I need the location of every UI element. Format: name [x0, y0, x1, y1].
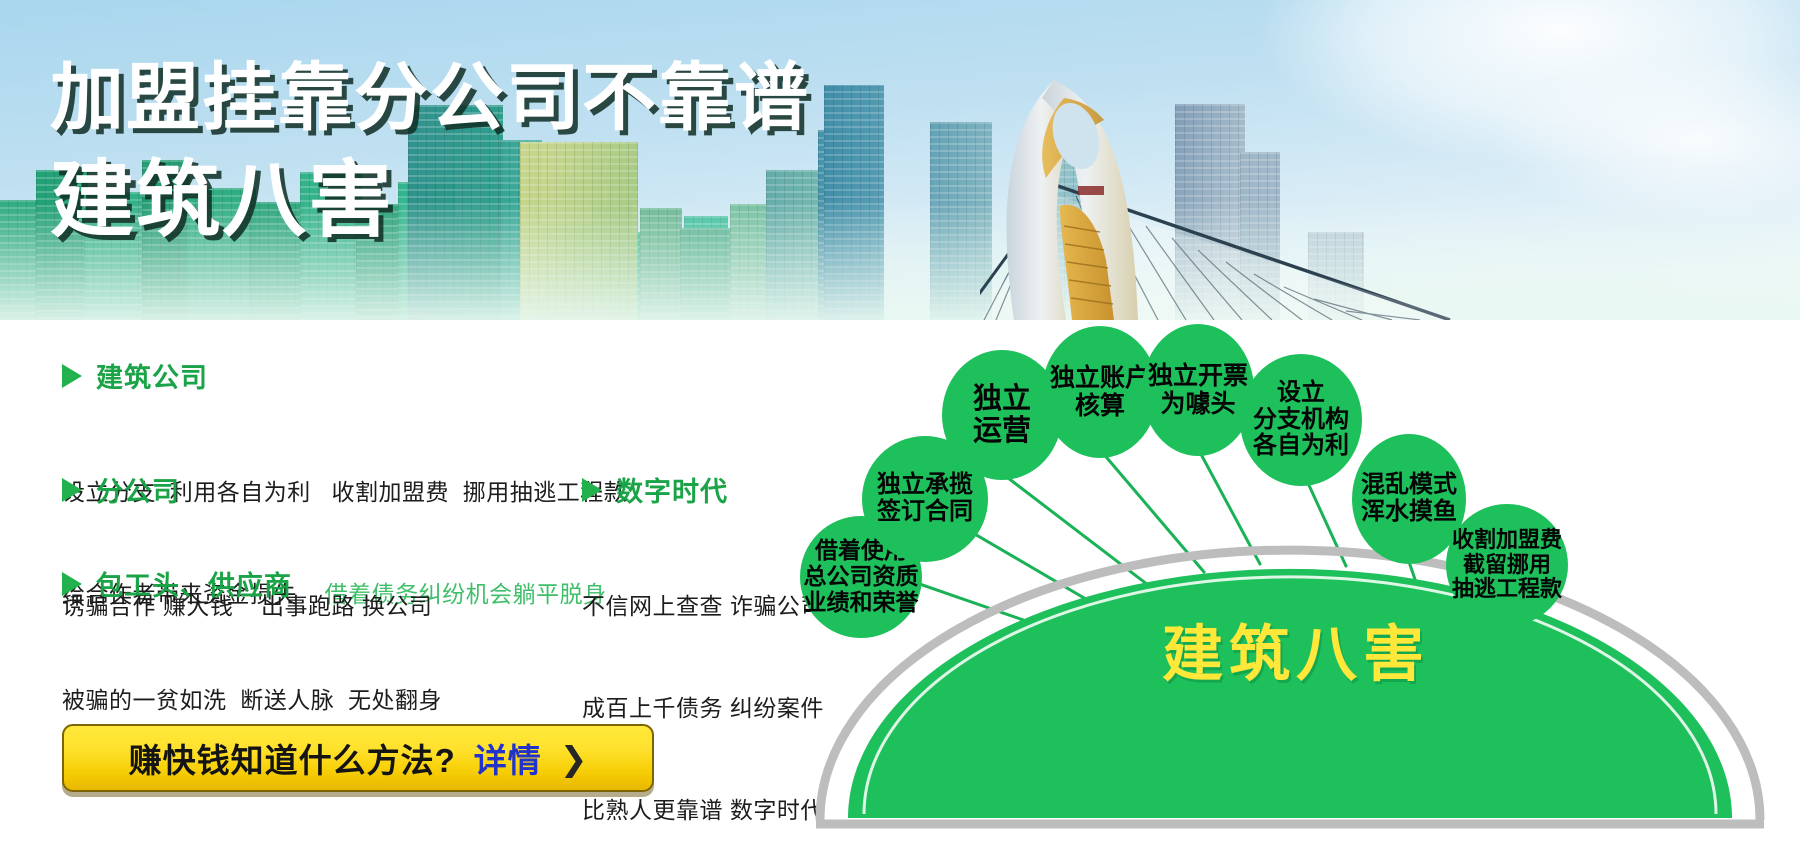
bubble-franchise-fee[interactable]: 收割加盟费 截留挪用 抽逃工程款: [1446, 504, 1568, 626]
section-header: 建筑公司: [62, 356, 627, 395]
bubble-independent-operation[interactable]: 独立 运营: [942, 350, 1062, 480]
triangle-right-icon: [62, 364, 82, 388]
details-cta-button[interactable]: 赚快钱知道什么方法? 详情 ❯: [62, 724, 654, 792]
triangle-right-icon: [62, 572, 82, 596]
hero-title-line-2: 建筑八害: [50, 150, 810, 250]
section-line: 被骗的一贫如洗 断送人脉 无处翻身: [62, 683, 442, 717]
chevron-right-icon: ❯: [560, 739, 588, 778]
bubble-text: 独立账户 核算: [1050, 364, 1150, 420]
bubble-text: 独立承揽 签订合同: [877, 472, 973, 526]
section-header: 分公司: [62, 470, 432, 509]
poster-root: 加盟挂靠分公司不靠谱 建筑八害 建筑公司 设立分支 利用各自为利 收割加盟费 挪…: [0, 0, 1800, 844]
triangle-right-icon: [582, 478, 602, 502]
bubble-independent-invoice[interactable]: 独立开票 为噱头: [1142, 324, 1254, 456]
hero-title-line-1: 加盟挂靠分公司不靠谱: [50, 52, 810, 144]
section-line: 比熟人更靠谱 数字时代: [582, 793, 824, 827]
bubble-text: 独立开票 为噱头: [1148, 362, 1248, 418]
cta-details-link[interactable]: 详情: [474, 734, 542, 782]
bubble-text: 收割加盟费 截留挪用 抽逃工程款: [1452, 528, 1562, 602]
bubble-independent-account[interactable]: 独立账户 核算: [1042, 326, 1158, 458]
section-header: 包工头、供应商: [62, 564, 442, 603]
bubble-text: 独立 运营: [973, 383, 1031, 448]
cta-main-label: 赚快钱知道什么方法?: [129, 734, 456, 782]
eight-harms-diagram: 建筑八害 借着使用 总公司资质 业绩和荣誉 独立承揽 签订合同 独立 运营 独立…: [790, 326, 1800, 844]
section-header: 数字时代: [582, 470, 824, 509]
hero-title: 加盟挂靠分公司不靠谱 建筑八害: [50, 52, 810, 250]
section-title: 包工头、供应商: [96, 564, 292, 603]
section-title: 数字时代: [616, 470, 728, 509]
bubble-text: 设立 分支机构 各自为利: [1253, 380, 1349, 461]
section-line: 成百上千债务 纠纷案件: [582, 691, 824, 725]
bridge-photo: [980, 0, 1800, 320]
section-title: 建筑公司: [96, 356, 208, 395]
bubble-branch-establishment[interactable]: 设立 分支机构 各自为利: [1240, 354, 1362, 486]
section-body: 不信网上查查 诈骗公司 成百上千债务 纠纷案件 比熟人更靠谱 数字时代: [582, 521, 824, 844]
section-title: 分公司: [96, 470, 180, 509]
hero-banner: 加盟挂靠分公司不靠谱 建筑八害: [0, 0, 1800, 320]
bubble-text: 混乱模式 浑水摸鱼: [1361, 472, 1457, 526]
section-line: 不信网上查查 诈骗公司: [582, 589, 824, 623]
triangle-right-icon: [62, 478, 82, 502]
